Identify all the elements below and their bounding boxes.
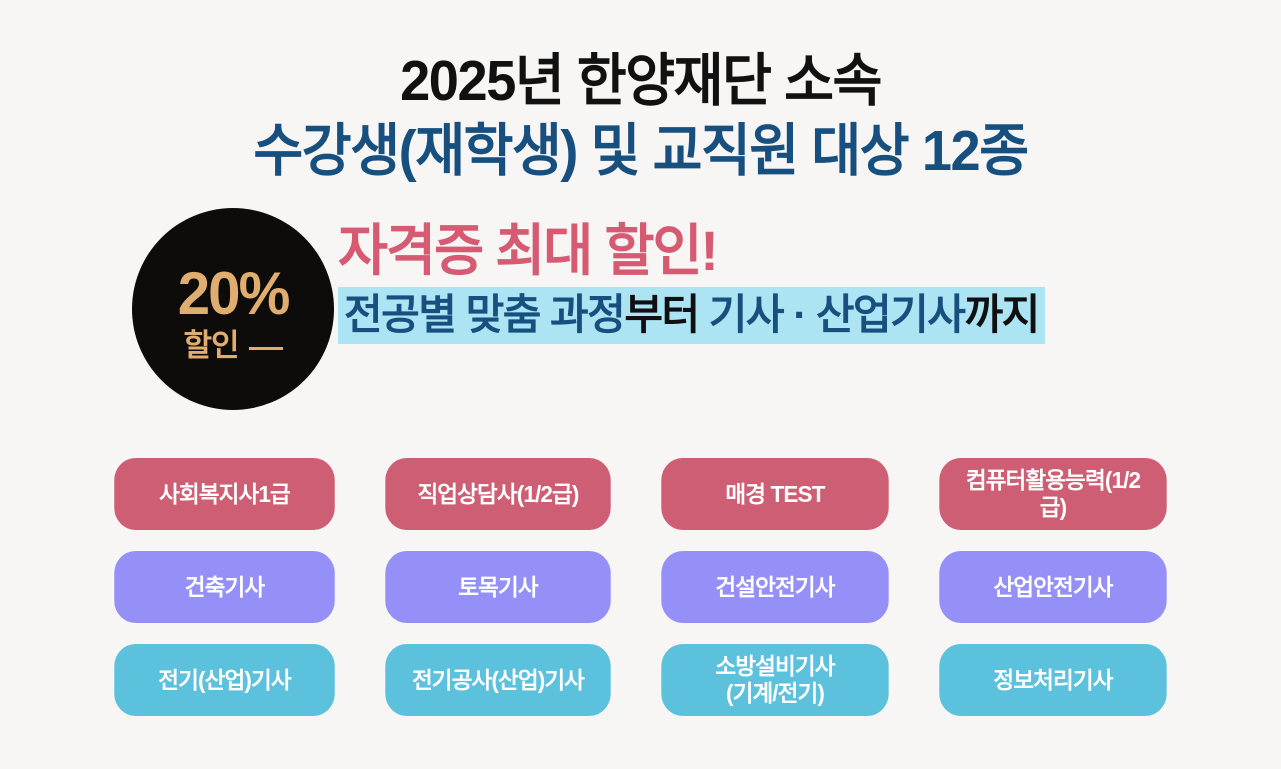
- discount-percent-label: 20%: [178, 264, 289, 324]
- pill-row-cyan: 전기(산업)기사 전기공사(산업)기사 소방설비기사 (기계/전기) 정보처리기…: [0, 644, 1281, 716]
- pill-item[interactable]: 컴퓨터활용능력(1/2급): [939, 458, 1166, 530]
- pill-row-rose: 사회복지사1급 직업상담사(1/2급) 매경 TEST 컴퓨터활용능력(1/2급…: [0, 458, 1281, 530]
- promo-subtitle-highlight: 전공별 맞춤 과정부터 기사 · 산업기사까지: [338, 287, 1045, 344]
- pill-item[interactable]: 토목기사: [385, 551, 610, 623]
- promo-subtitle-part-4: 까지: [964, 291, 1038, 338]
- discount-badge: 20% 할인: [132, 208, 334, 410]
- promo-headline: 자격증 최대 할인!: [338, 222, 1024, 281]
- headline-line-1: 2025년 한양재단 소속: [32, 52, 1249, 110]
- pill-item[interactable]: 전기(산업)기사: [114, 644, 335, 716]
- pill-item[interactable]: 건축기사: [114, 551, 335, 623]
- discount-sub-label: 할인: [183, 330, 238, 361]
- badge-rule-line: [249, 347, 283, 350]
- pill-item[interactable]: 건설안전기사: [661, 551, 888, 623]
- pill-item[interactable]: 소방설비기사 (기계/전기): [661, 644, 888, 716]
- pill-item[interactable]: 사회복지사1급: [114, 458, 335, 530]
- page-title: 2025년 한양재단 소속 수강생(재학생) 및 교직원 대상 12종: [0, 52, 1281, 180]
- promo-banner: 2025년 한양재단 소속 수강생(재학생) 및 교직원 대상 12종 20% …: [0, 0, 1281, 769]
- promo-subtitle-part-2: 부터: [624, 291, 698, 338]
- discount-sub-row: 할인: [183, 330, 282, 361]
- promo-text-block: 자격증 최대 할인! 전공별 맞춤 과정부터 기사 · 산업기사까지: [338, 222, 1045, 344]
- pill-item[interactable]: 직업상담사(1/2급): [385, 458, 610, 530]
- certificate-pill-grid: 사회복지사1급 직업상담사(1/2급) 매경 TEST 컴퓨터활용능력(1/2급…: [0, 458, 1281, 737]
- pill-item[interactable]: 매경 TEST: [661, 458, 888, 530]
- promo-subtitle-part-3: 기사 · 산업기사: [699, 291, 965, 338]
- pill-item[interactable]: 산업안전기사: [939, 551, 1166, 623]
- promo-subtitle-part-1: 전공별 맞춤 과정: [344, 291, 624, 338]
- pill-item[interactable]: 정보처리기사: [939, 644, 1166, 716]
- headline-line-2: 수강생(재학생) 및 교직원 대상 12종: [32, 122, 1249, 180]
- pill-item[interactable]: 전기공사(산업)기사: [385, 644, 610, 716]
- pill-row-purple: 건축기사 토목기사 건설안전기사 산업안전기사: [0, 551, 1281, 623]
